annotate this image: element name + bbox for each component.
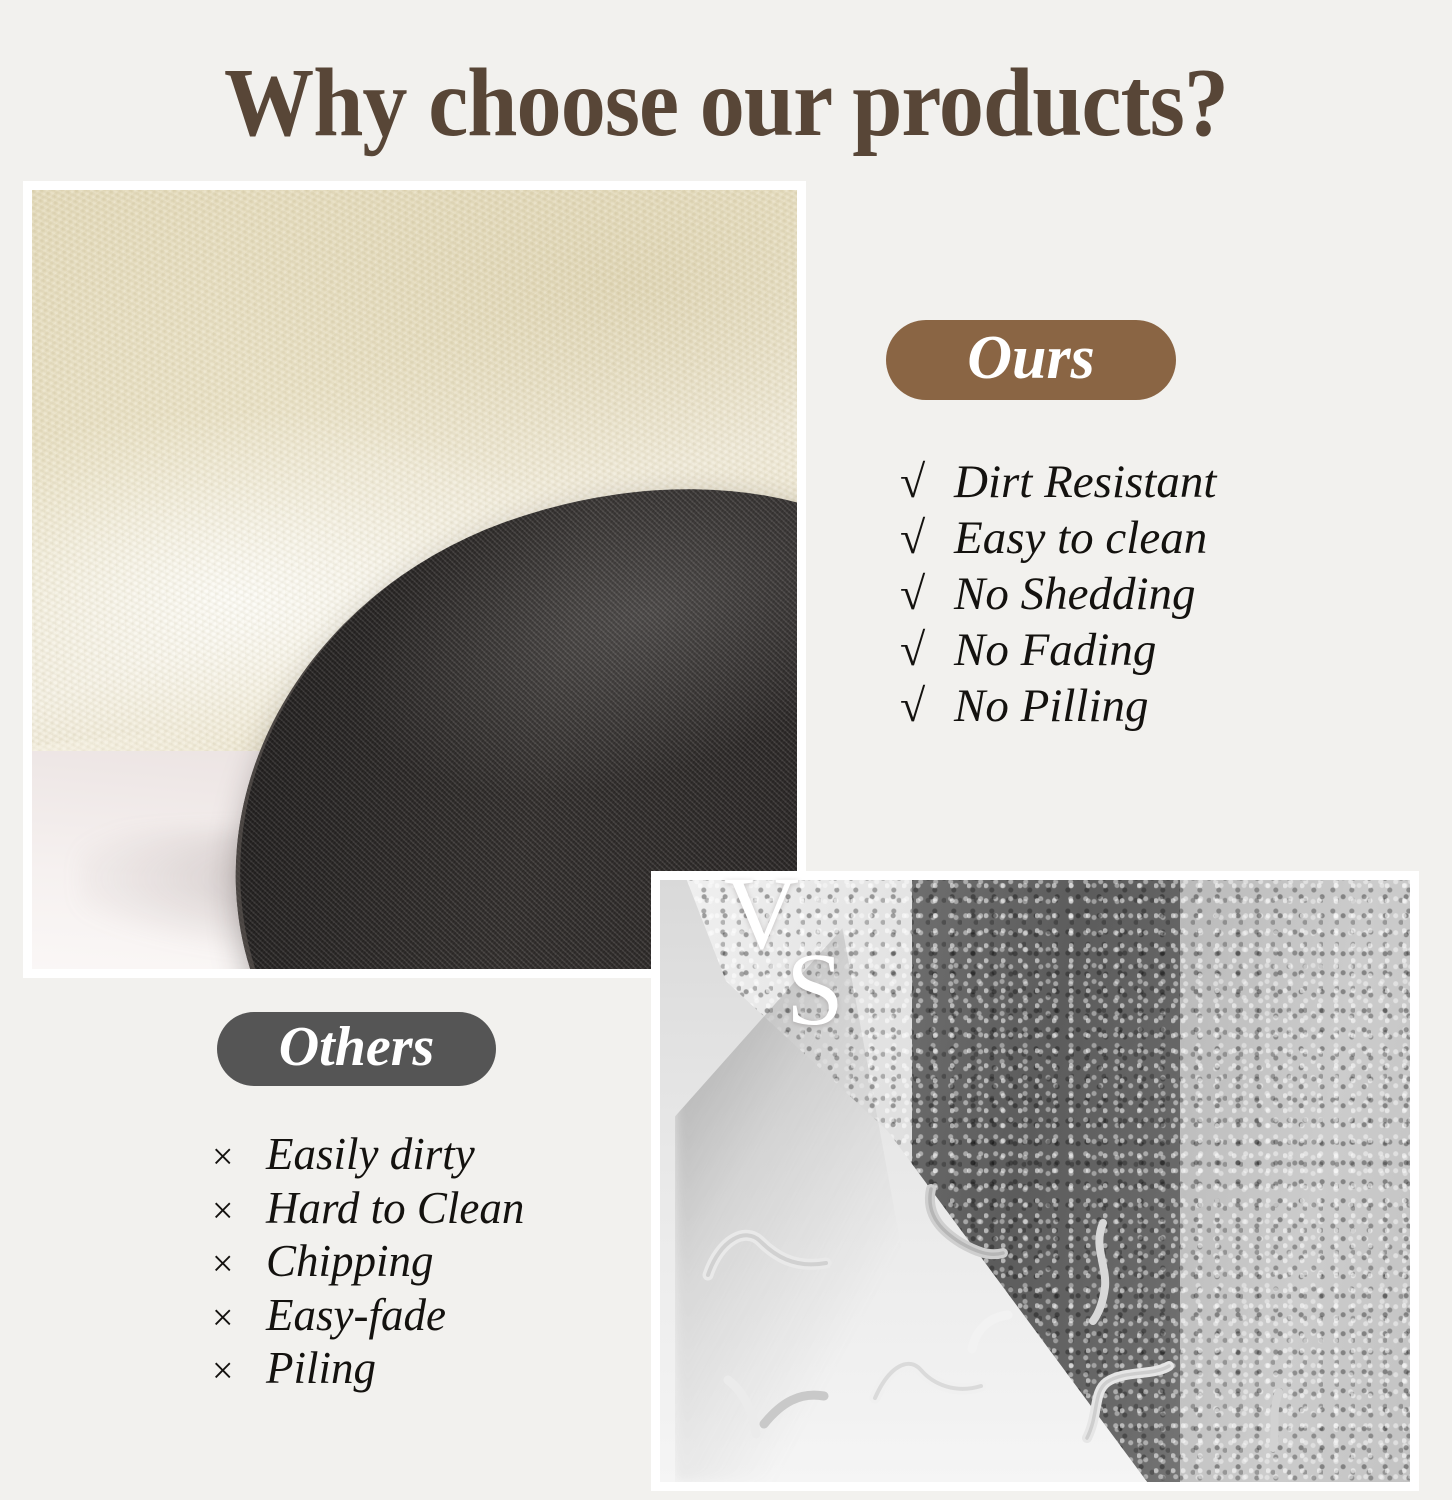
- list-item-label: Piling: [266, 1342, 376, 1396]
- shed-fiber-strand: [720, 1362, 840, 1442]
- list-item: √ No Shedding: [900, 567, 1216, 623]
- list-item: √ No Fading: [900, 623, 1216, 679]
- list-item: × Chipping: [212, 1235, 524, 1289]
- list-item-label: No Fading: [954, 623, 1156, 679]
- check-icon: √: [900, 623, 954, 678]
- list-item: × Easily dirty: [212, 1128, 524, 1182]
- list-item: √ Dirt Resistant: [900, 455, 1216, 511]
- list-item-label: No Pilling: [954, 679, 1149, 735]
- cross-icon: ×: [212, 1242, 266, 1287]
- shed-fiber-strand: [1073, 1356, 1213, 1446]
- others-badge: Others: [217, 1012, 496, 1086]
- list-item-label: Easy to clean: [954, 511, 1207, 567]
- shed-fiber-strand: [915, 1181, 1025, 1281]
- check-icon: √: [900, 679, 954, 734]
- list-item-label: Easy-fade: [266, 1289, 446, 1343]
- others-product-photo: [660, 880, 1410, 1482]
- check-icon: √: [900, 455, 954, 510]
- cross-icon: ×: [212, 1296, 266, 1341]
- cross-icon: ×: [212, 1189, 266, 1234]
- cross-icon: ×: [212, 1349, 266, 1394]
- product-comparison-infographic: Why choose our products?: [0, 0, 1452, 1500]
- shed-fiber-strand: [698, 1217, 848, 1297]
- list-item: × Piling: [212, 1342, 524, 1396]
- ours-product-photo-frame: [23, 181, 806, 978]
- list-item: × Easy-fade: [212, 1289, 524, 1343]
- ours-badge: Ours: [886, 320, 1176, 400]
- ours-product-photo: [32, 190, 797, 969]
- shed-fiber-strand: [960, 1301, 1020, 1361]
- shed-fiber-strand: [1245, 1386, 1315, 1456]
- list-item-label: Chipping: [266, 1235, 434, 1289]
- check-icon: √: [900, 567, 954, 622]
- list-item-label: Dirt Resistant: [954, 455, 1216, 511]
- others-feature-list: × Easily dirty × Hard to Clean × Chippin…: [212, 1128, 524, 1396]
- others-product-photo-frame: [651, 871, 1419, 1491]
- list-item: √ Easy to clean: [900, 511, 1216, 567]
- page-title: Why choose our products?: [58, 52, 1394, 155]
- ours-feature-list: √ Dirt Resistant √ Easy to clean √ No Sh…: [900, 455, 1216, 735]
- list-item-label: Hard to Clean: [266, 1182, 524, 1236]
- check-icon: √: [900, 511, 954, 566]
- list-item-label: Easily dirty: [266, 1128, 475, 1182]
- shed-fiber-strand: [1065, 1217, 1145, 1327]
- list-item: × Hard to Clean: [212, 1182, 524, 1236]
- cross-icon: ×: [212, 1135, 266, 1180]
- list-item-label: No Shedding: [954, 567, 1196, 623]
- list-item: √ No Pilling: [900, 679, 1216, 735]
